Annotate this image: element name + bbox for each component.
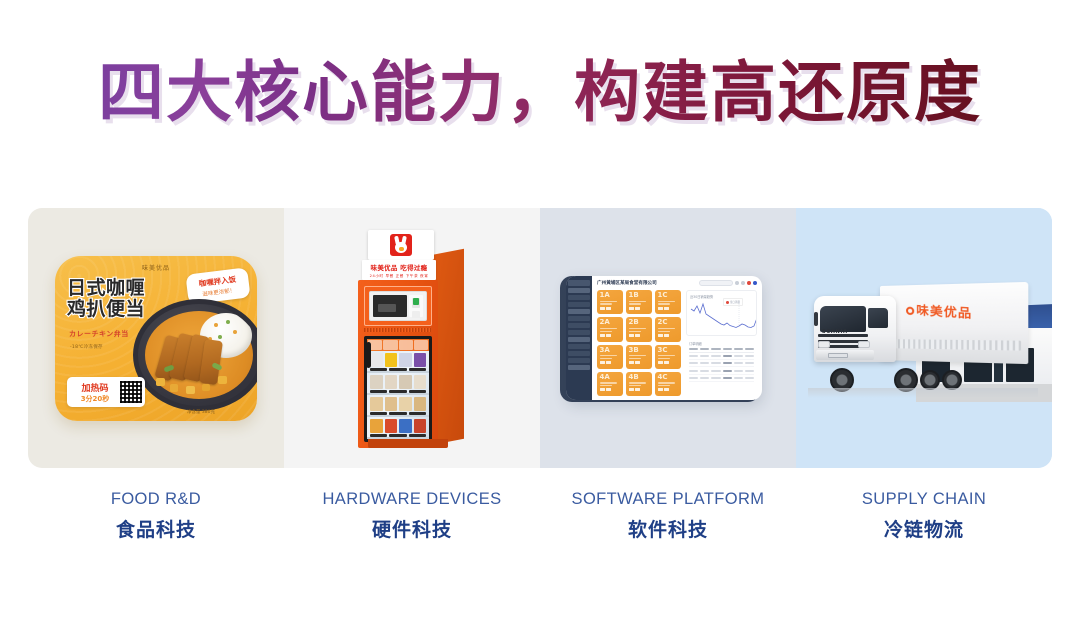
caption-english: SUPPLY CHAIN [796,490,1052,509]
slot-code: 4B [629,374,650,381]
microwave-window [373,295,407,317]
slot-chips [629,307,650,310]
slot-line [600,303,613,304]
rice-corn-1 [214,323,218,327]
slot-chip [606,388,611,391]
slot-line [658,382,676,383]
table-cell [700,362,709,364]
axis-tick [691,329,693,333]
grid-icon[interactable] [735,281,739,285]
slot-chip [658,361,663,364]
dashboard-sidebar[interactable] [566,276,592,400]
table-cell [734,355,743,357]
table-cell [711,362,720,364]
axis-tick [703,329,705,333]
column-header [711,348,720,350]
heating-code-text: 加热码 3分20秒 [70,381,120,404]
axis-tick [715,329,717,333]
axis-tick [727,329,729,333]
caption-chinese: 冷链物流 [796,515,1052,542]
slot-cell[interactable]: 3C [655,345,681,369]
sidebar-item[interactable] [568,302,590,307]
cold-chain-truck: 味美优品 SCANIA [808,278,1018,398]
header-tag [399,340,413,350]
dashboard-right-panel: 近30日销量趋势 当日销量 [686,290,757,396]
slot-cell[interactable]: 1C [655,290,681,314]
slot-line [600,355,618,356]
slot-chips [629,388,650,391]
machine-glass-door[interactable] [364,336,432,442]
company-name: 广州黄埔区某局食堂有限公司 [597,280,657,286]
product-item [414,353,427,367]
price-tag [370,434,387,437]
slot-line [629,355,647,356]
caption-english: HARDWARE DEVICES [284,490,540,509]
product-item [399,353,412,367]
slot-chip [658,388,663,391]
slot-chips [600,388,621,391]
food-bowl-graphic [133,299,257,411]
caption-chinese: 软件科技 [540,515,796,542]
net-weight-label: 净含量 380克 [187,409,215,415]
heating-code-box: 加热码 3分20秒 [67,377,145,407]
slot-line [629,331,642,332]
slot-line [629,328,647,329]
product-item [414,419,427,433]
package-subtitle: カレーチキン弁当 [69,329,129,339]
slot-chip [664,388,669,391]
slot-chip [629,361,634,364]
bento-package-image: 味美优品 日式咖喱 鸡扒便当 カレーチキン弁当 -18℃冷冻保存 咖喱拌入饭 滋… [55,256,257,421]
slot-line [600,328,618,329]
sidebar-item[interactable] [568,365,590,370]
price-tag-row [370,412,426,415]
price-tag [370,368,387,371]
slot-chip [606,334,611,337]
table-cell [723,370,732,372]
dashboard-screenshot: 广州黄埔区某局食堂有限公司 1A [566,276,762,400]
axis-tick [751,329,753,333]
product-item [370,419,383,433]
chart-x-axis [691,329,753,333]
card-hardware-devices[interactable]: 味美优品 吃得过瘾 24小时 早餐 正餐 下午茶 夜宵 [284,208,540,468]
slot-line [658,301,676,302]
table-cell [723,362,732,364]
machine-top-sign [368,230,434,260]
slot-chip [635,307,640,310]
sidebar-item[interactable] [568,337,590,342]
sidebar-item[interactable] [568,316,590,321]
slot-cell[interactable]: 1B [626,290,652,314]
slot-line [629,382,647,383]
package-title-line1: 日式咖喱 [67,278,145,299]
price-tag [370,412,387,415]
slot-chips [658,361,679,364]
ground-shadow [808,388,1038,398]
table-cell [711,355,720,357]
price-tag [409,434,426,437]
sidebar-item[interactable] [568,323,590,328]
slot-chip [658,307,663,310]
product-shelf [367,351,429,373]
dashboard-header: 广州黄埔区某局食堂有限公司 [597,280,757,286]
product-item [385,375,398,389]
potato-cube [202,384,210,391]
table-row[interactable] [689,375,754,382]
slot-chips [600,361,621,364]
table-cell [723,377,732,379]
trailer-brand-text: 味美优品 [916,303,972,321]
product-item [414,375,427,389]
slot-chip [664,307,669,310]
slot-chip [635,361,640,364]
product-item [370,353,383,367]
rabbit-face-icon [395,242,407,253]
table-cell [723,355,732,357]
side-window [868,308,888,328]
slot-cell[interactable]: 3B [626,345,652,369]
slot-chips [600,307,621,310]
trailer-brand-label: 味美优品 [906,300,972,322]
slot-line [658,328,676,329]
slot-chip [600,307,605,310]
package-title: 日式咖喱 鸡扒便当 [67,278,145,319]
product-shelf [367,417,429,439]
machine-banner: 味美优品 吃得过瘾 24小时 早餐 正餐 下午茶 夜宵 [362,260,436,280]
slot-cell[interactable]: 2C [655,317,681,341]
brand-mark-icon [906,306,914,315]
marketing-slide: 四大核心能力，构建高还原度 味美优品 日式咖喱 鸡扒便当 カレーチキン弁当 -1… [0,0,1080,639]
headlamp-icon [858,341,870,348]
headlamp-icon [818,341,830,348]
price-tag [409,390,426,393]
product-item [370,375,383,389]
caption-chinese: 食品科技 [28,515,284,542]
package-title-line2: 鸡扒便当 [67,299,145,320]
slot-chips [658,307,679,310]
caption-row: FOOD R&D 食品科技 HARDWARE DEVICES 硬件科技 SOFT… [28,490,1052,542]
slot-line [658,358,671,359]
truck-cab: SCANIA [814,296,896,362]
sidebar-header [568,280,590,286]
truck-wheel [942,370,962,390]
sales-trend-chart: 近30日销量趋势 当日销量 [686,290,757,336]
slot-code: 2B [629,319,650,326]
order-table: 订单明细 [686,339,757,396]
side-mirror [814,312,818,326]
product-shelf [367,373,429,395]
caption-supply-chain: SUPPLY CHAIN 冷链物流 [796,490,1052,542]
slot-line [600,358,613,359]
slot-line [658,303,671,304]
slot-chip [664,334,669,337]
price-tag-row [370,390,426,393]
search-input[interactable] [699,280,733,286]
slot-line [600,382,618,383]
headline-container: 四大核心能力，构建高还原度 [0,58,1080,127]
slot-cell[interactable]: 2A [597,317,623,341]
table-cell [700,355,709,357]
slot-line [600,385,613,386]
table-row[interactable] [689,353,754,360]
page-title: 四大核心能力，构建高还原度 [98,58,982,127]
slot-chip [635,388,640,391]
slot-chips [658,334,679,337]
column-header [689,348,698,350]
slot-chips [629,334,650,337]
slot-chips [629,361,650,364]
slot-code: 1C [658,292,679,299]
capability-card-strip: 味美优品 日式咖喱 鸡扒便当 カレーチキン弁当 -18℃冷冻保存 咖喱拌入饭 滋… [28,208,1052,468]
microwave-control-panel[interactable] [409,295,423,317]
price-tag-row [370,434,426,437]
product-item [385,397,398,411]
header-tag [383,340,397,350]
grille-bar [818,334,868,337]
package-temp-note: -18℃冷冻保存 [70,344,103,350]
slot-chip [600,388,605,391]
machine-base [368,439,448,448]
product-item [399,397,412,411]
slot-chip [664,361,669,364]
machine-vent [364,328,432,332]
table-cell [689,377,698,379]
table-cell [745,377,754,379]
chart-title: 近30日销量趋势 [690,294,753,299]
card-software-platform[interactable]: 广州黄埔区某局食堂有限公司 1A [540,208,796,468]
potato-cube [218,376,227,384]
slot-cell[interactable]: 3A [597,345,623,369]
slot-chip [606,307,611,310]
truck-wheel [920,370,940,390]
product-item [414,397,427,411]
slot-chip [658,334,663,337]
truck-trailer: 味美优品 [880,282,1028,364]
slot-chip [629,388,634,391]
slot-line [629,358,642,359]
license-plate [828,353,848,358]
table-cell [734,377,743,379]
slot-chip [606,361,611,364]
column-header [700,348,709,350]
table-cell [745,362,754,364]
sidebar-item[interactable] [568,309,590,314]
machine-banner-title: 味美优品 吃得过瘾 [371,262,428,272]
price-tag [389,390,406,393]
table-cell [745,355,754,357]
machine-banner-subtitle: 24小时 早餐 正餐 下午茶 夜宵 [370,274,429,279]
potato-cube [186,386,195,394]
dashboard-content: 1A 1B 1C [597,290,757,396]
product-item [370,397,383,411]
potato-cube [170,384,178,392]
machine-body [358,280,438,448]
table-cell [711,370,720,372]
caption-food-rd: FOOD R&D 食品科技 [28,490,284,542]
slot-chips [600,334,621,337]
slot-code: 4C [658,374,679,381]
rice-corn-2 [233,330,237,334]
table-cell [700,377,709,379]
slot-line [658,331,671,332]
slot-code: 1A [600,292,621,299]
slot-cell[interactable]: 4C [655,372,681,396]
card-food-rd[interactable]: 味美优品 日式咖喱 鸡扒便当 カレーチキン弁当 -18℃冷冻保存 咖喱拌入饭 滋… [28,208,284,468]
slot-chip [635,334,640,337]
dashboard-toolbar[interactable] [699,280,757,286]
slot-chip [600,334,605,337]
slot-code: 2C [658,319,679,326]
heating-code-time: 3分20秒 [70,394,120,404]
sidebar-item[interactable] [568,330,590,335]
column-header [734,348,743,350]
table-cell [689,370,698,372]
product-item [399,375,412,389]
price-tag [389,434,406,437]
caption-software-platform: SOFTWARE PLATFORM 软件科技 [540,490,796,542]
caption-chinese: 硬件科技 [284,515,540,542]
rice-pea-2 [218,335,222,339]
column-header [745,348,754,350]
caption-english: SOFTWARE PLATFORM [540,490,796,509]
slot-line [629,303,642,304]
slot-line [629,385,642,386]
card-supply-chain[interactable]: 味美优品 味美优品 SCANIA [796,208,1052,468]
qr-code-icon [120,381,142,403]
slot-line [629,301,647,302]
slot-chip [600,361,605,364]
microwave-unit[interactable] [369,291,427,321]
product-shelf [367,395,429,417]
slot-cell[interactable]: 1A [597,290,623,314]
rice-pea-1 [226,320,230,324]
axis-tick [739,329,741,333]
price-tag [389,368,406,371]
sidebar-item[interactable] [568,344,590,349]
potato-cube [156,378,165,386]
caption-hardware-devices: HARDWARE DEVICES 硬件科技 [284,490,540,542]
shelf-header-strip [367,339,429,351]
slot-chips [658,388,679,391]
slot-line [658,385,671,386]
dashboard-main: 广州黄埔区某局食堂有限公司 1A [592,276,762,400]
price-tag [389,412,406,415]
microwave-compartment[interactable] [364,286,432,326]
slot-code: 1B [629,292,650,299]
sidebar-item[interactable] [568,295,590,300]
avatar[interactable] [753,281,757,285]
table-cell [689,355,698,357]
slot-cell[interactable]: 4A [597,372,623,396]
table-title: 订单明细 [689,341,754,346]
table-cell [734,362,743,364]
table-cell [745,370,754,372]
slot-code: 3C [658,347,679,354]
slot-chip [629,307,634,310]
slot-code: 3B [629,347,650,354]
slot-chip [629,334,634,337]
slot-line [600,331,613,332]
table-cell [689,362,698,364]
sidebar-item[interactable] [568,358,590,363]
product-item [399,419,412,433]
slot-code: 2A [600,319,621,326]
product-item [385,419,398,433]
slot-cell[interactable]: 4B [626,372,652,396]
table-row[interactable] [689,367,754,374]
status-indicator-icon [413,298,419,305]
header-tag [414,340,428,350]
table-row[interactable] [689,360,754,367]
trailer-side-ribs [888,339,1021,351]
table-cell [700,370,709,372]
price-tag [370,390,387,393]
table-cell [711,377,720,379]
vending-machine-image: 味美优品 吃得过瘾 24小时 早餐 正餐 下午茶 夜宵 [348,230,476,448]
bell-icon[interactable] [741,281,745,285]
table-cell [734,370,743,372]
slot-code: 3A [600,347,621,354]
column-header [723,348,732,350]
product-item [385,353,398,367]
chart-line-svg [689,300,757,330]
rabbit-mascot-icon [390,234,412,256]
heating-code-label: 加热码 [70,381,120,394]
slot-cell[interactable]: 2B [626,317,652,341]
slot-grid[interactable]: 1A 1B 1C [597,290,681,396]
slot-line [600,301,618,302]
slot-line [658,355,676,356]
sidebar-item[interactable] [568,351,590,356]
price-tag [409,412,426,415]
notification-badge[interactable] [747,281,751,285]
slot-code: 4A [600,374,621,381]
caption-english: FOOD R&D [28,490,284,509]
price-tag-row [370,368,426,371]
door-handle[interactable] [366,342,371,368]
price-tag [409,368,426,371]
sidebar-item[interactable] [568,288,590,293]
